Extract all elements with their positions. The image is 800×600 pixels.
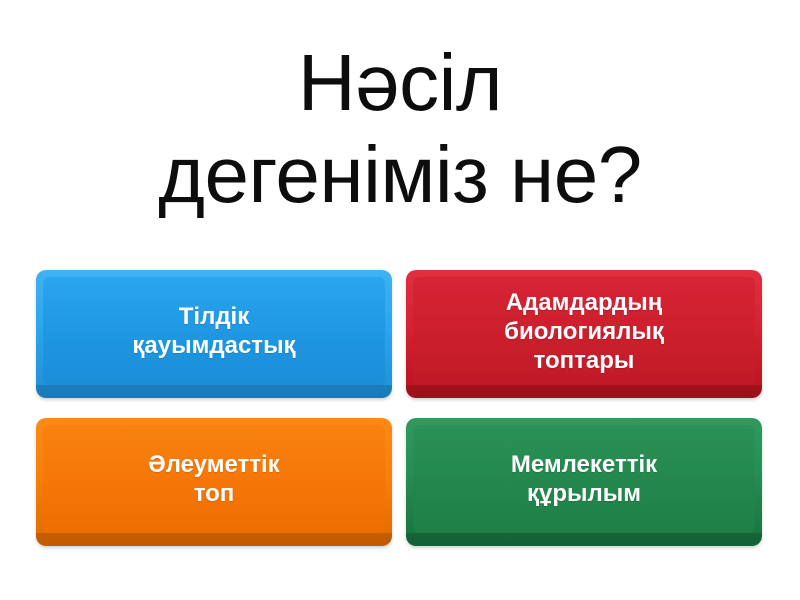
answer-tile-1-face: Тілдік қауымдастық xyxy=(43,277,385,385)
answer-tile-4[interactable]: Мемлекеттік құрылым xyxy=(406,418,762,546)
answer-tile-2-face: Адамдардың биологиялық топтары xyxy=(413,277,755,385)
answer-tile-3-label: Әлеуметтік топ xyxy=(148,450,279,508)
question-text: Нәсіл дегеніміз не? xyxy=(158,37,641,221)
answer-tile-1[interactable]: Тілдік қауымдастық xyxy=(36,270,392,398)
answer-tile-3-face: Әлеуметтік топ xyxy=(43,425,385,533)
question-area: Нәсіл дегеніміз не? xyxy=(0,0,800,258)
answer-tile-2-label: Адамдардың биологиялық топтары xyxy=(504,288,664,375)
answer-tile-4-face: Мемлекеттік құрылым xyxy=(413,425,755,533)
answer-options-grid: Тілдік қауымдастық Адамдардың биологиялы… xyxy=(36,270,762,550)
quiz-card: Нәсіл дегеніміз не? Тілдік қауымдастық А… xyxy=(0,0,800,600)
answer-tile-4-label: Мемлекеттік құрылым xyxy=(511,450,657,508)
answer-tile-1-label: Тілдік қауымдастық xyxy=(132,302,295,360)
answer-tile-3[interactable]: Әлеуметтік топ xyxy=(36,418,392,546)
answer-tile-2[interactable]: Адамдардың биологиялық топтары xyxy=(406,270,762,398)
